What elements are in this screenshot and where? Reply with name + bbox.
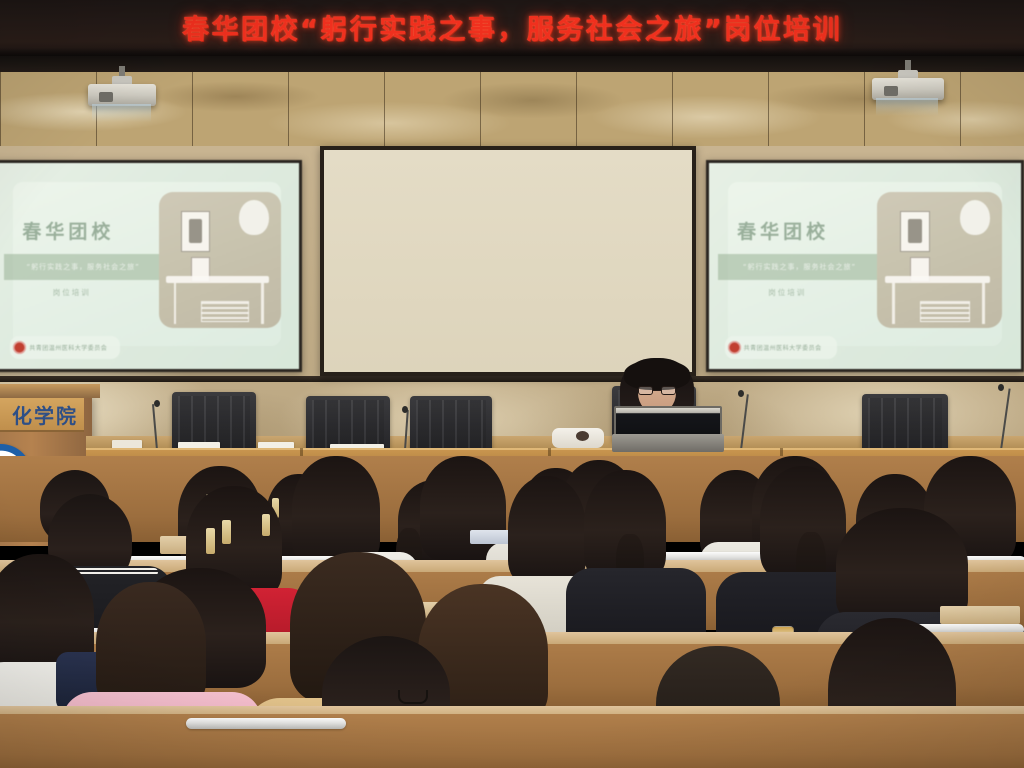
slide-photo — [159, 192, 281, 328]
panel-chair — [410, 396, 492, 454]
slide-org-logo: 共青团温州医科大学委员会 — [10, 336, 119, 359]
hair-clip — [222, 520, 231, 544]
ceiling-projector-left — [88, 66, 156, 110]
desk-microphone — [404, 410, 408, 450]
slide-org-logo: 共青团温州医科大学委员会 — [725, 336, 837, 359]
podium-sign-text: 化学院 — [12, 400, 78, 429]
projector-lens — [99, 92, 113, 102]
hair-clip — [206, 528, 215, 554]
wall-divider — [0, 376, 1024, 382]
slide-band-text: “躬行实践之事，服务社会之旅” — [27, 262, 140, 272]
ceiling-projector-right — [872, 60, 944, 106]
projector-body — [872, 78, 944, 100]
presenter-glasses-icon — [638, 386, 676, 395]
slide-title: 春华团校 — [737, 217, 829, 244]
mic-head-icon — [154, 400, 160, 407]
photo-table-leg — [892, 283, 895, 324]
projector-lens — [884, 86, 898, 96]
projection-screen-right: 春华团校 “躬行实践之事，服务社会之旅” 岗位培训 共青团温州医科大学委员会 — [706, 160, 1024, 372]
eyeglasses-icon — [398, 690, 428, 704]
lecture-hall-photo: 春华团校“躬行实践之事，服务社会之旅”岗位培训 春华团校 “躬行实践之事，服务社… — [0, 0, 1024, 768]
mic-head-icon — [738, 390, 744, 397]
slide-subtitle: 岗位培训 — [53, 287, 91, 298]
desk-microphone — [740, 394, 744, 450]
slide-content-left: 春华团校 “躬行实践之事，服务社会之旅” 岗位培训 共青团温州医科大学委员会 — [0, 163, 299, 369]
audience-head — [508, 476, 586, 584]
org-badge-icon — [728, 341, 741, 354]
photo-table-leg — [174, 283, 177, 324]
org-badge-icon — [13, 341, 26, 354]
podium-sign: 化学院 — [0, 398, 84, 432]
photo-table — [885, 276, 990, 283]
laptop-base — [612, 434, 724, 452]
projector-light-glow — [876, 98, 938, 116]
center-whiteboard — [320, 146, 696, 376]
bench-desktop — [940, 606, 1020, 624]
slide-logo-text: 共青团温州医科大学委员会 — [744, 343, 822, 352]
slide-title: 春华团校 — [22, 217, 114, 244]
mic-head-icon — [402, 406, 408, 413]
audience-head — [96, 582, 206, 710]
slide-subtitle-band: “躬行实践之事，服务社会之旅” — [4, 254, 162, 281]
bench-row4-panel — [0, 714, 1024, 768]
slide-subtitle-band: “躬行实践之事，服务社会之旅” — [718, 254, 880, 281]
slide-photo — [877, 192, 1002, 328]
photo-table-leg — [261, 283, 264, 324]
hair-clip — [262, 514, 270, 536]
laptop-screen — [614, 406, 722, 436]
photo-picture-frame — [900, 211, 930, 252]
photo-table — [166, 276, 268, 283]
bench-rail — [186, 718, 346, 729]
desk-microphone — [156, 404, 160, 450]
slide-content-right: 春华团校 “躬行实践之事，服务社会之旅” 岗位培训 共青团温州医科大学委员会 — [709, 163, 1021, 369]
photo-picture-frame — [181, 211, 210, 252]
photo-balloon — [239, 200, 268, 235]
audience-head — [292, 456, 380, 566]
audience-seating — [0, 456, 1024, 768]
event-banner: 春华团校“躬行实践之事，服务社会之旅”岗位培训 — [0, 0, 1024, 56]
presenter-laptop[interactable] — [612, 406, 724, 454]
projection-screen-left: 春华团校 “躬行实践之事，服务社会之旅” 岗位培训 共青团温州医科大学委员会 — [0, 160, 302, 372]
photo-table-leg — [982, 283, 985, 324]
slide-subtitle: 岗位培训 — [768, 287, 806, 298]
banner-title: 春华团校“躬行实践之事，服务社会之旅”岗位培训 — [182, 8, 842, 47]
slide-band-text: “躬行实践之事，服务社会之旅” — [743, 262, 856, 272]
photo-stool — [201, 301, 250, 323]
photo-balloon — [960, 200, 990, 235]
projector-light-glow — [92, 104, 150, 122]
podium-top — [0, 384, 100, 398]
mic-head-icon — [998, 384, 1004, 391]
photo-stool — [920, 301, 970, 323]
slide-logo-text: 共青团温州医科大学委员会 — [29, 343, 107, 352]
desk-white-object — [552, 428, 604, 448]
panel-chair — [862, 394, 948, 454]
desk-microphone — [1000, 388, 1004, 450]
